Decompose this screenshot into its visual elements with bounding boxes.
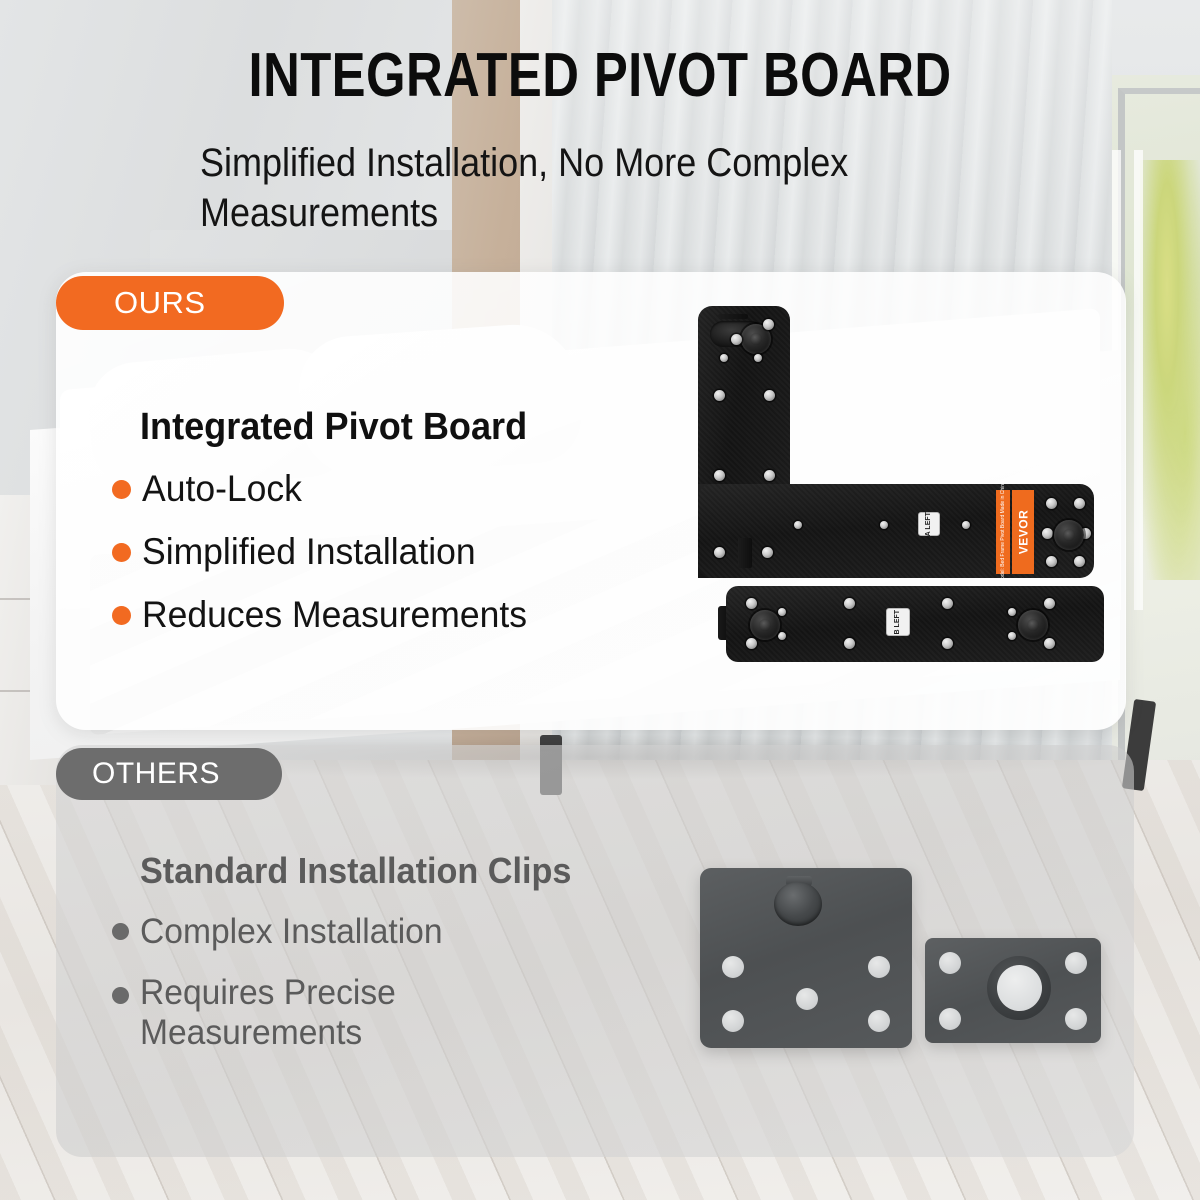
list-item: Auto-Lock [112, 468, 543, 510]
ours-feature-list: Auto-Lock Simplified Installation Reduce… [112, 468, 543, 657]
bullet-dot-icon [112, 923, 129, 940]
list-item: Simplified Installation [112, 531, 543, 573]
part-b-pivot-hub-right [1018, 610, 1048, 640]
list-item: Complex Installation [112, 912, 470, 952]
part-b-identifier-sticker: B LEFT [886, 608, 910, 636]
part-a-clip-tab [718, 314, 748, 319]
others-feature-list: Complex Installation Requires Precise Me… [112, 912, 470, 1074]
bullet-dot-icon [112, 606, 131, 625]
others-heading: Standard Installation Clips [140, 850, 571, 892]
bullet-dot-icon [112, 480, 131, 499]
integrated-pivot-board-part-b: B LEFT [726, 586, 1104, 662]
ours-heading: Integrated Pivot Board [140, 406, 527, 449]
vevor-spec-text: Model: Bed Frame Pivot Board Made in Chi… [996, 490, 1010, 574]
bullet-dot-icon [112, 543, 131, 562]
standard-clip-plate-small [925, 938, 1101, 1043]
part-a-pivot-hub-right [1054, 520, 1084, 550]
product-comparison-infographic: INTEGRATED PIVOT BOARD Simplified Instal… [0, 0, 1200, 1200]
page-subtitle: Simplified Installation, No More Complex… [200, 138, 947, 238]
list-item: Reduces Measurements [112, 594, 543, 636]
bullet-dot-icon [112, 987, 129, 1004]
standard-clip-plate-large [700, 868, 912, 1048]
others-badge: OTHERS [56, 748, 282, 800]
vevor-brand-label: VEVOR [1012, 490, 1034, 574]
clip-pin [774, 882, 822, 926]
list-item: Requires Precise Measurements [112, 973, 470, 1053]
clip-center-hole [997, 965, 1042, 1011]
ours-badge: OURS [56, 276, 284, 330]
part-a-identifier-sticker: A LEFT [918, 512, 940, 536]
integrated-pivot-board-part-a: A LEFT Model: Bed Frame Pivot Board Made… [690, 306, 1102, 578]
part-a-horizontal-arm [698, 484, 1094, 578]
ours-badge-label: OURS [114, 285, 206, 321]
part-a-edge-tab [738, 538, 752, 568]
others-badge-label: OTHERS [92, 757, 220, 791]
part-b-pivot-hub-left [750, 610, 780, 640]
page-title: INTEGRATED PIVOT BOARD [108, 44, 1092, 108]
